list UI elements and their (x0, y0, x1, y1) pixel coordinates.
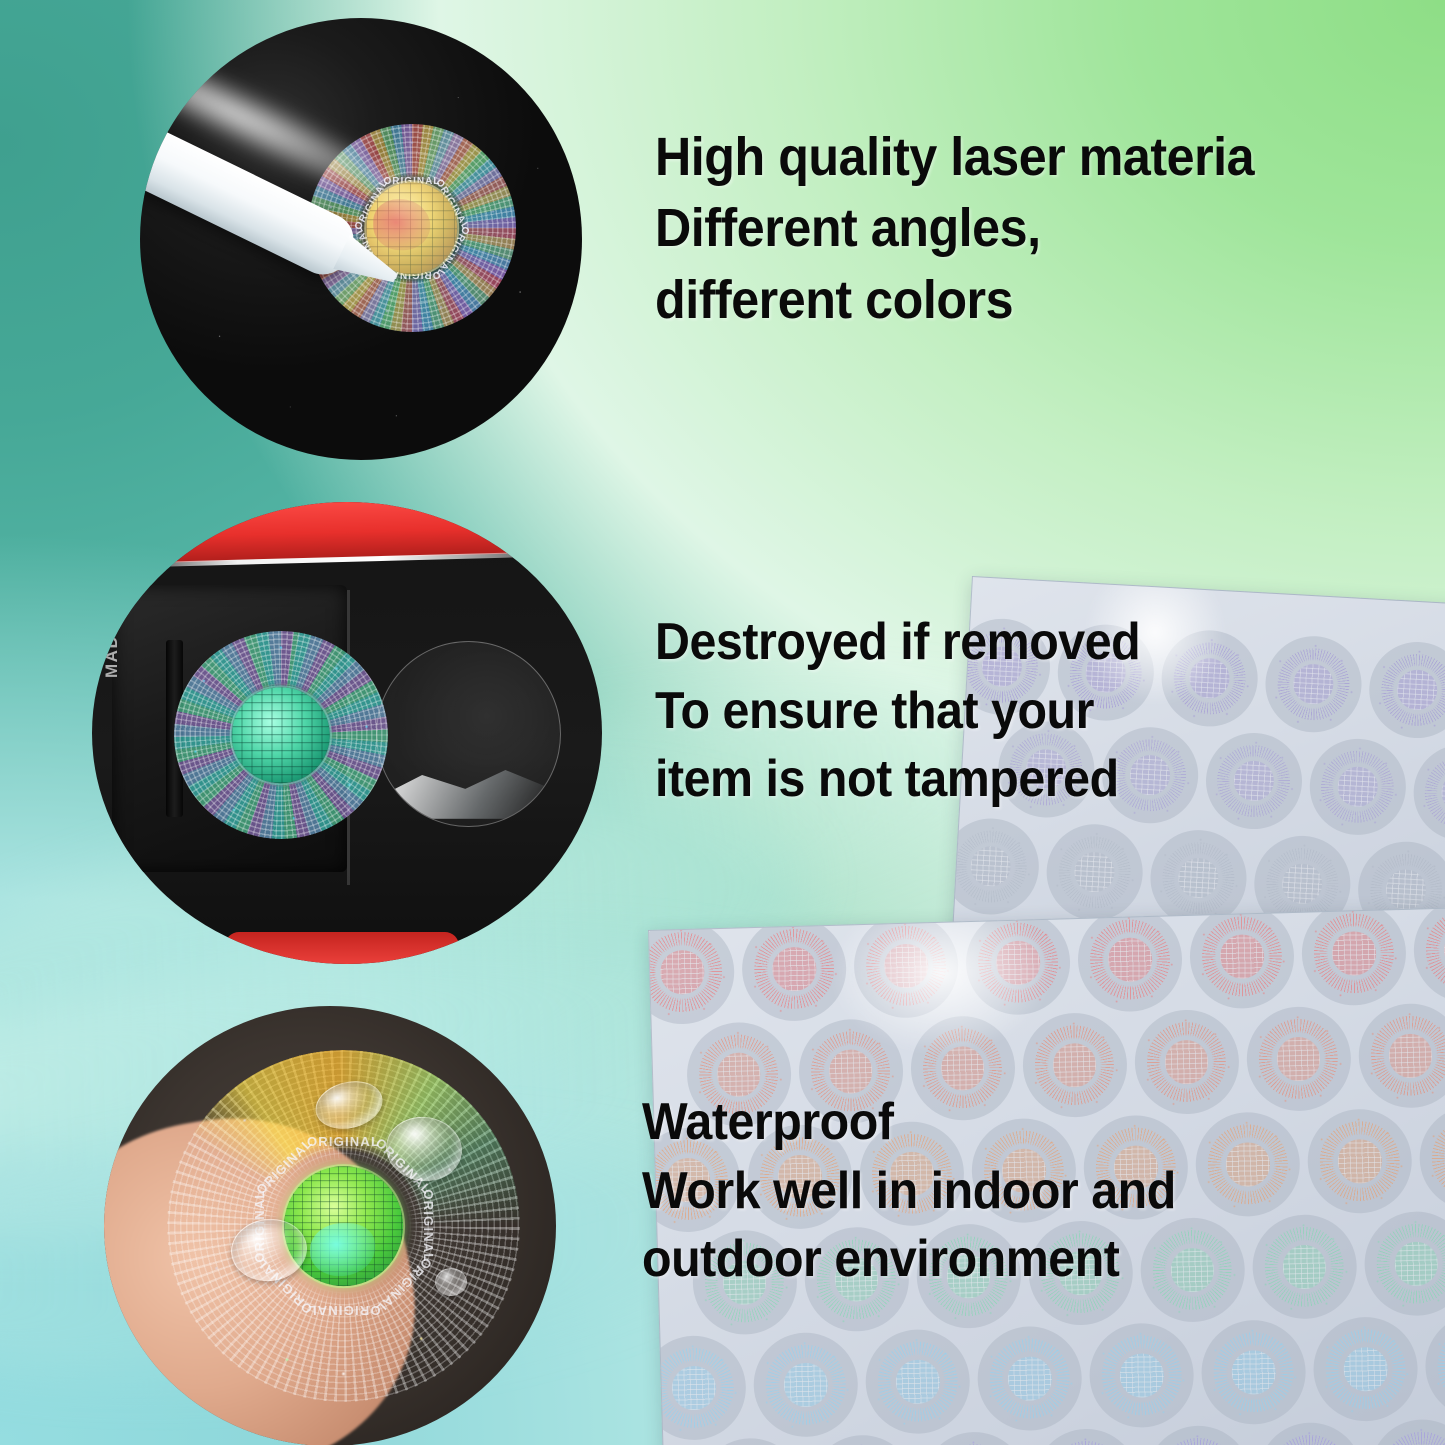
sticker-seal (1424, 1313, 1445, 1420)
seal-stars (1369, 1418, 1445, 1445)
sticker-seal (648, 1334, 747, 1441)
globe-icon (231, 687, 330, 783)
photo-pen-on-hologram: ORIGINALORIGINALORIGINALORIGINALORIGINAL… (140, 18, 582, 460)
seal-stars (1412, 905, 1445, 1003)
sticker-seal (976, 1325, 1083, 1432)
seal-stars (1418, 1105, 1445, 1212)
product-feature-image: ORIGINALORIGINALORIGINALORIGINALORIGINAL… (0, 0, 1445, 1445)
seal-globe (1164, 1040, 1209, 1085)
sticker-seal (697, 1437, 804, 1445)
seal-globe (1108, 937, 1153, 982)
sticker-seal (1312, 1316, 1419, 1423)
feature-line: To ensure that your (655, 677, 1343, 746)
seal-globe (1119, 1353, 1164, 1398)
seal-globe (1007, 1356, 1052, 1401)
feature-text-laser-material: High quality laser materia Different ang… (655, 122, 1399, 336)
feature-line: outdoor environment (642, 1225, 1386, 1294)
seal-globe (1396, 669, 1438, 711)
seal-stars (697, 1437, 804, 1445)
sticker-seal (1200, 1319, 1307, 1426)
feature-text-waterproof: Waterproof Work well in indoor and outdo… (642, 1088, 1386, 1294)
seal-globe (1177, 857, 1219, 899)
globe-icon (284, 1166, 404, 1286)
sticker-seal (1044, 822, 1145, 923)
feature-line: Destroyed if removed (655, 608, 1343, 677)
sticker-seal (1189, 905, 1296, 1009)
seal-globe (671, 1365, 716, 1410)
made-in-china-label: MADE IN CHINA (102, 528, 122, 678)
seal-stars (1424, 1313, 1445, 1420)
seal-stars (921, 1431, 1028, 1445)
feature-line: Different angles, (655, 193, 1399, 264)
feature-line: High quality laser materia (655, 122, 1399, 193)
red-accent-bottom (225, 932, 460, 964)
seal-globe (1343, 1347, 1388, 1392)
seal-globe (783, 1362, 828, 1407)
sheet-glare (824, 905, 1057, 1060)
seal-stars (1033, 1428, 1140, 1445)
feature-line: Waterproof (642, 1088, 1386, 1157)
sticker-seal (1300, 905, 1407, 1006)
seal-globe (1231, 1350, 1276, 1395)
seal-globe (1052, 1043, 1097, 1088)
seal-globe (1385, 868, 1427, 910)
holographic-seal-split (174, 631, 388, 839)
seal-globe (660, 950, 705, 995)
seal-stars (1145, 1424, 1252, 1445)
sticker-seal (752, 1331, 859, 1438)
seal-globe (1394, 1241, 1439, 1286)
seal-globe (970, 845, 1012, 887)
seal-globe (1073, 851, 1116, 893)
holographic-seal: ORIGINALORIGINALORIGINALORIGINALORIGINAL… (167, 1050, 520, 1402)
sticker-seal (809, 1434, 916, 1445)
sticker-seal (1367, 639, 1445, 740)
sticker-seal (1369, 1418, 1445, 1445)
sticker-seal (1088, 1322, 1195, 1429)
sticker-seal (1077, 906, 1184, 1013)
seal-globe (1220, 934, 1265, 979)
sticker-seal (864, 1328, 971, 1435)
sticker-seal (1033, 1428, 1140, 1445)
destroyed-sticker-remnant (376, 641, 562, 828)
sticker-seal (1418, 1105, 1445, 1212)
sticker-seal (1257, 1421, 1364, 1445)
seal-globe (1388, 1033, 1433, 1078)
seal-globe (1281, 863, 1324, 905)
ring-word: ORIGINAL (307, 1303, 380, 1318)
seal-stars (809, 1434, 916, 1445)
seal-globe (1331, 931, 1376, 976)
feature-text-tamper-evident: Destroyed if removed To ensure that your… (655, 608, 1343, 814)
feature-line: item is not tampered (655, 745, 1343, 814)
seal-globe (1276, 1036, 1321, 1081)
seal-stars (1257, 1421, 1364, 1445)
sticker-seal (921, 1431, 1028, 1445)
seal-stars (1411, 742, 1445, 843)
ring-word: ORIGINAL (307, 1134, 380, 1149)
seal-globe (895, 1359, 940, 1404)
sticker-seal (1145, 1424, 1252, 1445)
photo-waterproof-droplets: ORIGINALORIGINALORIGINALORIGINALORIGINAL… (104, 1006, 556, 1445)
seal-globe (772, 946, 817, 991)
photo-split-hologram-device: MADE IN CHINA (92, 502, 602, 964)
feature-line: Work well in indoor and (642, 1157, 1386, 1226)
feature-line: different colors (655, 265, 1399, 336)
ring-word: ORIGINAL (421, 1189, 436, 1262)
sticker-seal (944, 816, 1041, 917)
sticker-seal (648, 919, 736, 1026)
sticker-seal (1411, 742, 1445, 843)
sticker-seal (1412, 905, 1445, 1003)
